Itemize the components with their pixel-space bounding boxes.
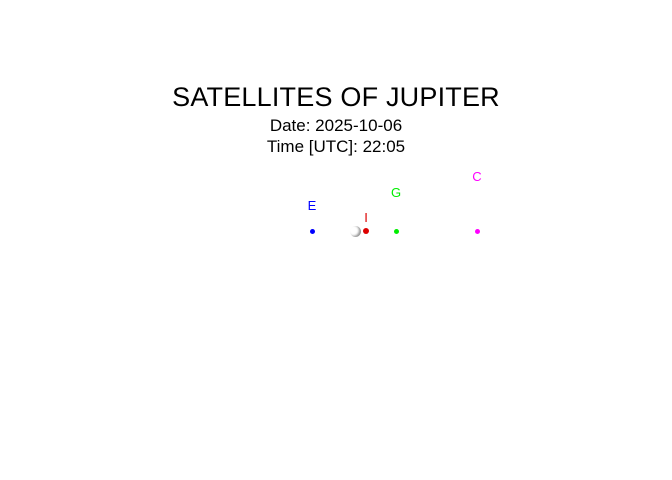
moon-dot-c [475,229,480,234]
moon-dot-g [394,229,399,234]
sky-plot-area: EIGC [0,0,672,480]
moon-label-i: I [346,211,386,224]
moon-label-c: C [457,170,497,183]
moon-label-e: E [292,199,332,212]
satellite-viewer-canvas: SATELLITES OF JUPITER Date: 2025-10-06 T… [0,0,672,480]
moon-dot-i [363,228,369,234]
jupiter-disk [350,226,361,237]
moon-dot-e [310,229,315,234]
moon-label-g: G [376,186,416,199]
